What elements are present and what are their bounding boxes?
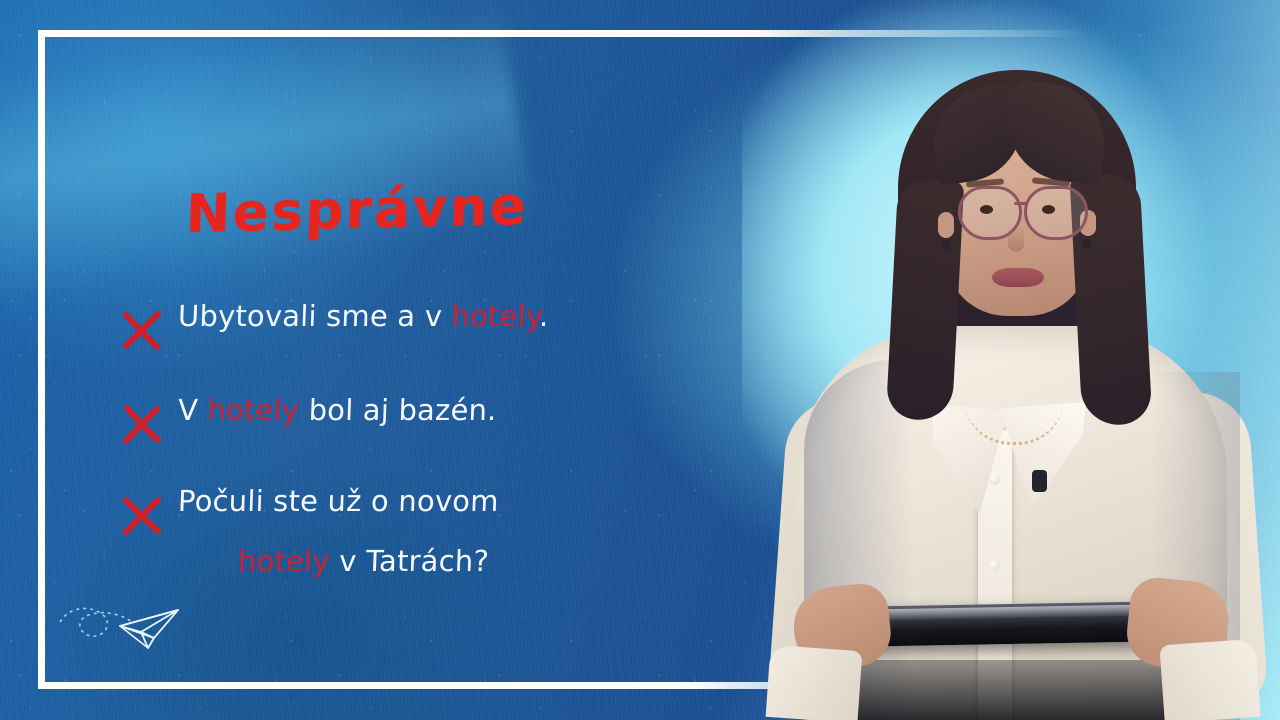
page-title: Nesprávne bbox=[185, 176, 529, 245]
sentence-segment: Ubytovali sme a v bbox=[177, 299, 452, 333]
eyeglasses-bridge bbox=[1014, 202, 1028, 205]
highlighted-word: hotely bbox=[207, 393, 300, 427]
presenter-earring-left bbox=[941, 240, 951, 250]
sentence-line: V hotely bol aj bazén. bbox=[177, 396, 497, 425]
list-item: Počuli ste už o novom hotely v Tatrách? bbox=[118, 487, 499, 576]
presenter-nose bbox=[1008, 226, 1024, 252]
sentence-line: hotely v Tatrách? bbox=[237, 547, 499, 576]
sentence-segment: bol aj bazén. bbox=[299, 393, 498, 427]
presenter-eye-right bbox=[1042, 205, 1055, 214]
presenter-mouth bbox=[992, 268, 1044, 287]
sentence-segment: v Tatrách? bbox=[329, 544, 489, 578]
lapel-microphone-icon bbox=[1032, 470, 1047, 492]
presenter-blouse-button bbox=[989, 474, 1000, 485]
sentence-line: Ubytovali sme a v hotely. bbox=[177, 302, 549, 331]
list-item: Ubytovali sme a v hotely. bbox=[118, 302, 549, 354]
highlighted-word: hotely bbox=[451, 299, 540, 333]
presenter-sleeve-cuff-left bbox=[766, 645, 863, 720]
slide-content: Nesprávne Ubytovali sme a v hotely. bbox=[0, 0, 720, 720]
slide-stage: Nesprávne Ubytovali sme a v hotely. bbox=[0, 0, 1280, 720]
presenter-sleeve-cuff-right bbox=[1159, 639, 1260, 720]
x-mark-icon bbox=[118, 306, 166, 354]
sentence-line: Počuli ste už o novom bbox=[177, 487, 499, 516]
presenter-ear-left bbox=[938, 212, 954, 238]
presenter-video bbox=[742, 0, 1280, 720]
x-mark-icon bbox=[118, 491, 166, 539]
sentence-segment: Počuli ste už o novom bbox=[177, 484, 499, 518]
sentence-segment: . bbox=[539, 299, 550, 333]
presenter-earring-right bbox=[1082, 239, 1092, 249]
sentence-segment: V bbox=[177, 393, 208, 427]
presenter-eye-left bbox=[980, 205, 993, 214]
list-item-text: Ubytovali sme a v hotely. bbox=[178, 302, 549, 331]
eyeglasses-lens-right bbox=[1024, 186, 1088, 240]
x-mark-icon bbox=[118, 400, 166, 448]
presenter-lower-shadow bbox=[838, 660, 1188, 720]
paper-plane-icon bbox=[58, 592, 228, 662]
presenter-blouse-button bbox=[989, 560, 1000, 571]
list-item: V hotely bol aj bazén. bbox=[118, 396, 497, 448]
list-item-text: V hotely bol aj bazén. bbox=[178, 396, 497, 425]
list-item-text: Počuli ste už o novom hotely v Tatrách? bbox=[178, 487, 499, 576]
highlighted-word: hotely bbox=[237, 544, 330, 578]
